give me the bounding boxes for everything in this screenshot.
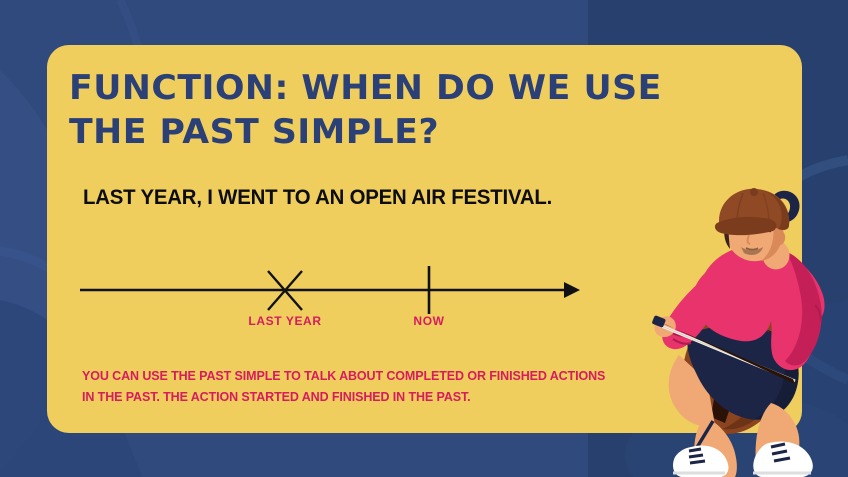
cellist-illustration bbox=[645, 185, 848, 477]
example-sentence: Last year, I went to an open air festiva… bbox=[83, 186, 684, 210]
explanation-note-line-2: in the past. The action started and fini… bbox=[82, 387, 642, 408]
timeline-label-last-year: Last year bbox=[248, 314, 321, 328]
timeline-label-now: Now bbox=[413, 314, 444, 328]
timeline-svg bbox=[80, 258, 580, 333]
timeline-arrow-head bbox=[564, 282, 580, 298]
explanation-note-line-1: You can use the past simple to talk abou… bbox=[82, 366, 642, 387]
timeline-diagram: Last year Now bbox=[80, 258, 580, 333]
explanation-note: You can use the past simple to talk abou… bbox=[82, 366, 642, 408]
page-title: Function: When do we use the past simple… bbox=[69, 66, 722, 154]
slide-canvas: Function: When do we use the past simple… bbox=[0, 0, 848, 477]
